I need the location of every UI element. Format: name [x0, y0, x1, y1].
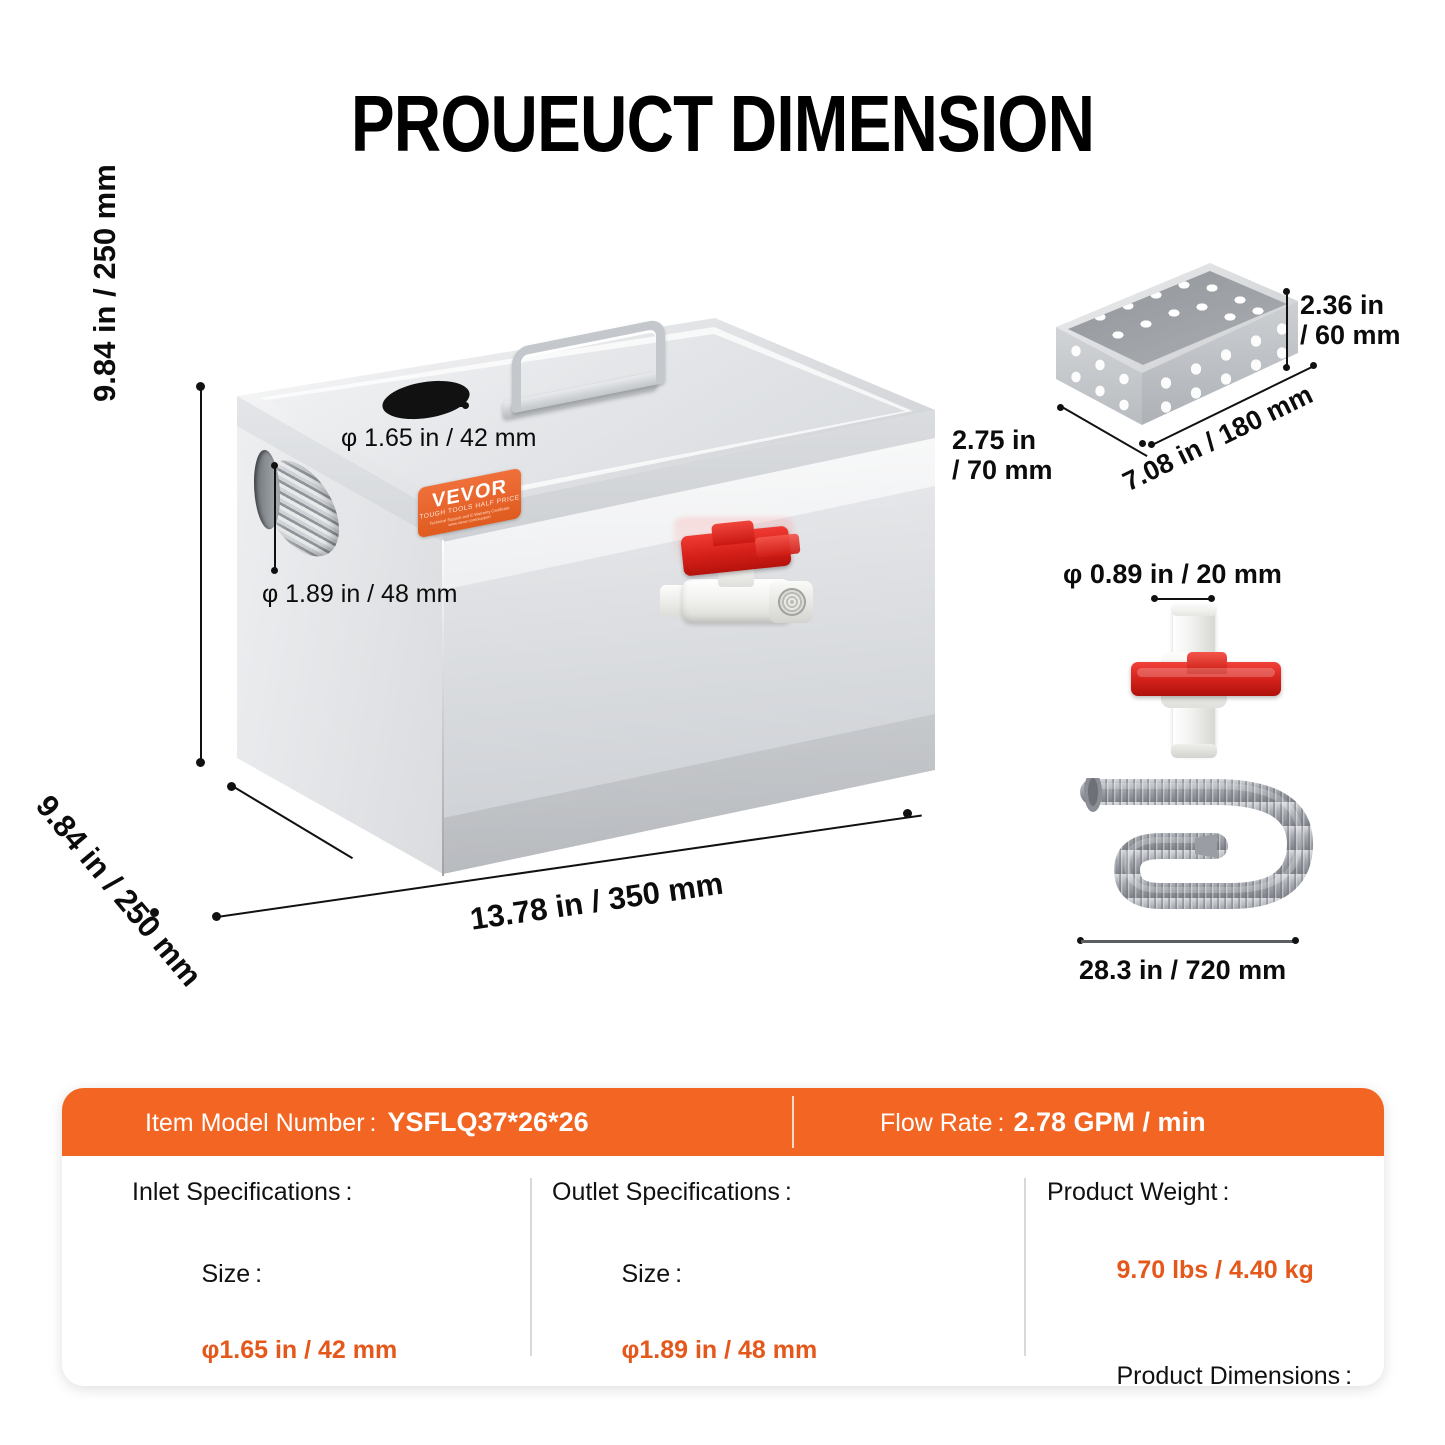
basket-length-dot-right [1310, 362, 1317, 369]
basket-height-dot-bottom [1283, 364, 1290, 371]
height-leader-dot-bottom [196, 758, 205, 767]
valve-diameter-label: φ 0.89 in / 20 mm [1063, 559, 1282, 589]
product-weight-row: 9.70 lbs / 4.40 kg [1047, 1217, 1377, 1324]
specification-panel: Item Model Number : YSFLQ37*26*26 Flow R… [62, 1088, 1384, 1386]
hose-length-label: 28.3 in / 720 mm [1079, 955, 1286, 985]
model-number-label: Item Model Number : [145, 1109, 376, 1138]
outlet-leader-line [274, 465, 276, 571]
page-title: PROUEUCT DIMENSION [130, 78, 1315, 170]
inlet-leader-dot-right [462, 402, 469, 409]
main-height-label: 9.84 in / 250 mm [88, 52, 123, 402]
valve-bottom-cap [1171, 744, 1217, 758]
model-number-value: YSFLQ37*26*26 [387, 1107, 588, 1138]
basket-depth-label: 2.75 in / 70 mm [952, 425, 1053, 485]
inlet-leader-line [399, 405, 465, 407]
basket-height-line [1286, 291, 1288, 367]
header-divider [792, 1096, 794, 1148]
ball-valve-illustration [1125, 600, 1285, 760]
spec-columns: Inlet Specifications : Size : φ1.65 in /… [62, 1156, 1384, 1386]
corrugated-hose-illustration [1065, 778, 1327, 928]
inlet-size-row: Size : φ1.65 in / 42 mm [132, 1217, 532, 1386]
inlet-size-label: Size : [201, 1260, 262, 1288]
product-dimensions-label-row: Product Dimensions : [1047, 1324, 1377, 1387]
valve-threaded-socket [769, 581, 813, 623]
flow-rate-value: 2.78 GPM / min [1014, 1107, 1206, 1138]
model-number-cell: Item Model Number : YSFLQ37*26*26 [145, 1107, 589, 1138]
product-dimensions-label: Product Dimensions : [1116, 1362, 1352, 1386]
top-inlet-label: φ 1.65 in / 42 mm [341, 424, 536, 452]
width-leader-dot-right [903, 809, 912, 818]
valve-handle [1131, 662, 1281, 696]
flow-rate-label: Flow Rate : [880, 1109, 1005, 1138]
flow-rate-cell: Flow Rate : 2.78 GPM / min [880, 1107, 1206, 1138]
basket-height-label: 2.36 in / 60 mm [1300, 290, 1401, 350]
product-weight-label: Product Weight : [1047, 1156, 1377, 1217]
mounted-ball-valve [652, 523, 822, 653]
infographic-canvas: PROUEUCT DIMENSION VEVOR TOUGH TOOLS HAL… [0, 0, 1445, 1445]
outlet-size-value: φ1.89 in / 48 mm [621, 1336, 817, 1364]
hose-svg [1065, 778, 1327, 928]
product-weight-value: 9.70 lbs / 4.40 kg [1116, 1256, 1313, 1284]
inlet-spec-column: Inlet Specifications : Size : φ1.65 in /… [132, 1156, 532, 1386]
hose-length-line [1081, 940, 1295, 943]
side-outlet-label: φ 1.89 in / 48 mm [262, 580, 457, 608]
outlet-leader-dot-bottom [271, 567, 278, 574]
valve-dia-line [1155, 598, 1211, 600]
product-spec-column: Product Weight : 9.70 lbs / 4.40 kg Prod… [1047, 1156, 1377, 1386]
outlet-heading: Outlet Specifications : [552, 1156, 1032, 1217]
panel-header-bar: Item Model Number : YSFLQ37*26*26 Flow R… [62, 1088, 1384, 1156]
outlet-size-label: Size : [621, 1260, 682, 1288]
outlet-spec-column: Outlet Specifications : Size : φ1.89 in … [552, 1156, 1032, 1386]
hose-length-dot-right [1292, 937, 1299, 944]
valve-dia-dot-right [1208, 595, 1215, 602]
basket-depth-dot-bottom [1139, 440, 1146, 447]
main-depth-label: 9.84 in / 250 mm [28, 789, 207, 993]
inlet-size-value: φ1.65 in / 42 mm [201, 1336, 397, 1364]
inlet-heading: Inlet Specifications : [132, 1156, 532, 1217]
outlet-size-row: Size : φ1.89 in / 48 mm [552, 1217, 1032, 1386]
valve-top-cap [1171, 602, 1217, 616]
height-leader-line [200, 386, 202, 762]
